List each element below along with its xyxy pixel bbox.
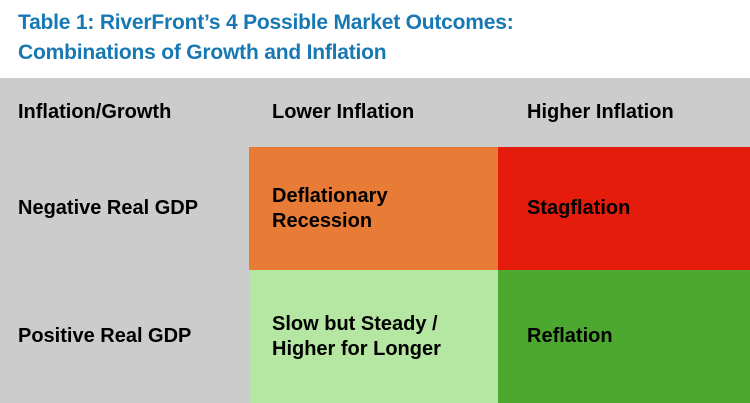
column-header-lower-inflation: Lower Inflation [249, 78, 498, 147]
figure-title: Table 1: RiverFront’s 4 Possible Market … [0, 0, 750, 78]
table-row: Positive Real GDP Slow but Steady / High… [0, 270, 750, 403]
table-figure: Table 1: RiverFront’s 4 Possible Market … [0, 0, 750, 403]
table-row: Negative Real GDP Deflationary Recession… [0, 147, 750, 270]
cell-slow-but-steady: Slow but Steady / Higher for Longer [249, 270, 498, 403]
row-header-label: Negative Real GDP [18, 196, 198, 221]
outcomes-table: Inflation/Growth Lower Inflation Higher … [0, 78, 750, 403]
cell-reflation: Reflation [498, 270, 750, 403]
cell-label: Stagflation [527, 196, 630, 221]
cell-label: Reflation [527, 324, 613, 349]
cell-label: Deflationary Recession [272, 184, 388, 234]
column-header-label: Higher Inflation [527, 100, 674, 125]
title-line-2: Combinations of Growth and Inflation [18, 38, 732, 68]
row-header-label: Positive Real GDP [18, 324, 191, 349]
cell-stagflation: Stagflation [498, 147, 750, 270]
row-header-positive-real-gdp: Positive Real GDP [0, 270, 249, 403]
column-header-higher-inflation: Higher Inflation [498, 78, 750, 147]
title-line-1: Table 1: RiverFront’s 4 Possible Market … [18, 8, 732, 38]
cell-deflationary-recession: Deflationary Recession [249, 147, 498, 270]
row-header-negative-real-gdp: Negative Real GDP [0, 147, 249, 270]
table-header-row: Inflation/Growth Lower Inflation Higher … [0, 78, 750, 147]
cell-label: Slow but Steady / Higher for Longer [272, 312, 441, 362]
column-header-inflation-growth: Inflation/Growth [0, 78, 249, 147]
column-header-label: Inflation/Growth [18, 100, 171, 125]
column-header-label: Lower Inflation [272, 100, 414, 125]
